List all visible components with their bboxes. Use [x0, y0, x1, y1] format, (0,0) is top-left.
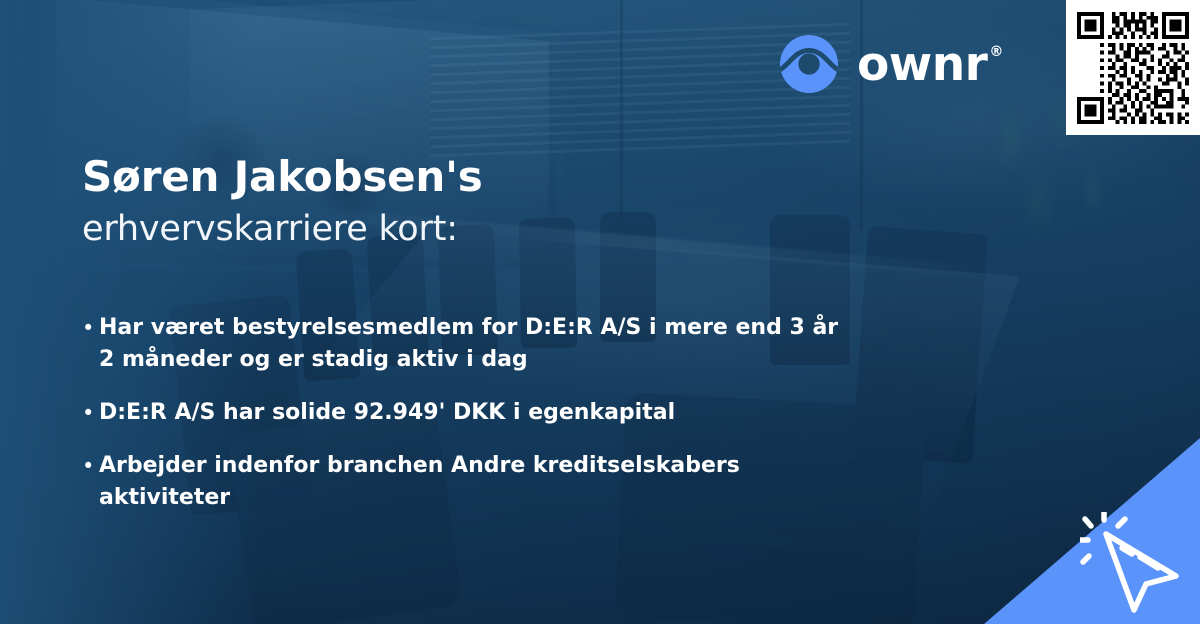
list-item: • D:E:R A/S har solide 92.949' DKK i ege…: [82, 397, 962, 429]
headline-name: Søren Jakobsen's: [82, 152, 862, 202]
bullet-marker: •: [82, 450, 99, 482]
click-cursor-icon: [1080, 512, 1192, 614]
qr-code[interactable]: [1077, 12, 1189, 124]
ownr-logo[interactable]: ownr ®: [778, 33, 1003, 95]
list-item: • Har været bestyrelsesmedlem for D:E:R …: [82, 312, 962, 376]
ownr-business-career-card: ownr ® Søren Jakobsen's erhvervskarriere…: [0, 0, 1200, 624]
bullet-marker: •: [82, 312, 99, 344]
headline-block: Søren Jakobsen's erhvervskarriere kort:: [82, 152, 862, 250]
headline-subtitle: erhvervskarriere kort:: [82, 208, 862, 250]
bullet-text: Arbejder indenfor branchen Andre kredits…: [99, 450, 839, 514]
bullet-text: Har været bestyrelsesmedlem for D:E:R A/…: [99, 312, 839, 376]
bullet-text: D:E:R A/S har solide 92.949' DKK i egenk…: [99, 397, 675, 429]
ownr-wordmark-text: ownr: [857, 41, 987, 88]
ownr-wordmark: ownr ®: [857, 41, 1003, 88]
registered-trademark-symbol: ®: [989, 45, 1003, 59]
bullet-marker: •: [82, 397, 99, 429]
list-item: • Arbejder indenfor branchen Andre kredi…: [82, 450, 962, 514]
bullet-list: • Har været bestyrelsesmedlem for D:E:R …: [82, 312, 962, 514]
qr-code-panel[interactable]: [1066, 0, 1200, 135]
ownr-circle-logo-icon: [778, 33, 840, 95]
